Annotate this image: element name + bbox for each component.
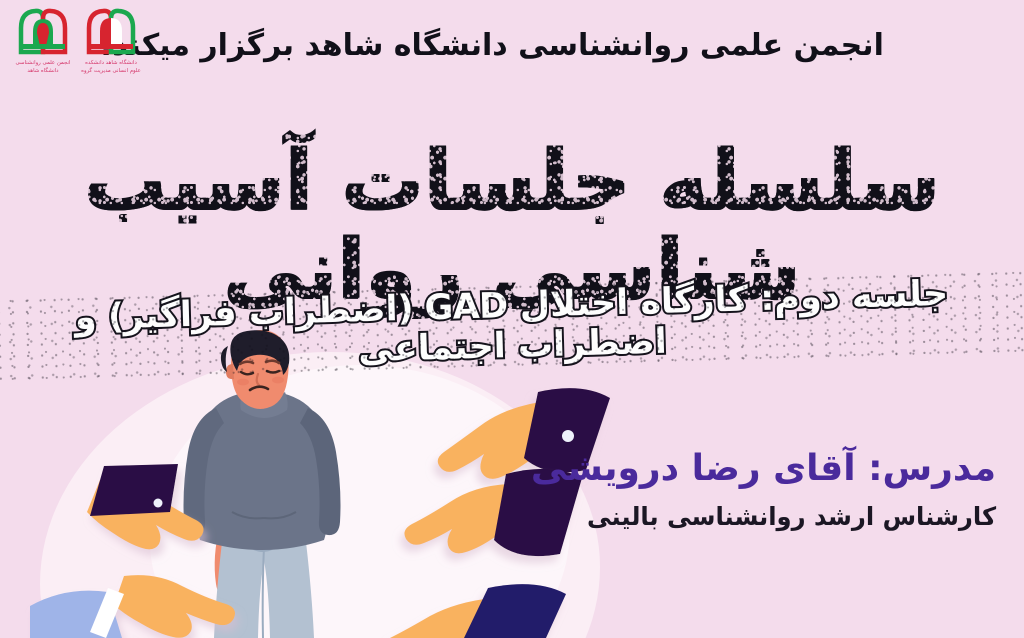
hand-bottom-left <box>30 575 235 638</box>
shahed-university-logo-icon <box>81 6 141 58</box>
logo-unit-association: انجمن علمی روانشناسی دانشگاه شاهد <box>12 6 74 76</box>
hand-bottom-right <box>390 584 566 638</box>
instructor-role: کارشناس ارشد روانشناسی بالینی <box>545 502 996 531</box>
psychology-association-logo-caption: انجمن علمی روانشناسی دانشگاه شاهد <box>12 60 74 76</box>
shahed-university-logo-caption: دانشگاه شاهد دانشکده علوم انسانی مدیریت … <box>80 60 142 76</box>
logo-unit-university: دانشگاه شاهد دانشکده علوم انسانی مدیریت … <box>80 6 142 76</box>
instructor-block: مدرس: آقای رضا درویشی کارشناس ارشد روانش… <box>531 448 996 531</box>
instructor-name: مدرس: آقای رضا درویشی <box>531 448 996 489</box>
hand-top-left-sleeve <box>90 464 178 516</box>
organizer-header: انجمن علمی روانشناسی دانشگاه شاهد برگزار… <box>0 28 1024 63</box>
sleeve-button <box>562 430 574 442</box>
hand-bottom-right-sleeve <box>464 584 566 638</box>
sleeve-button <box>154 499 163 508</box>
poster-canvas: دانشگاه شاهد دانشکده علوم انسانی مدیریت … <box>0 0 1024 638</box>
logo-group: دانشگاه شاهد دانشکده علوم انسانی مدیریت … <box>6 6 142 90</box>
psychology-association-logo-icon <box>13 6 73 58</box>
person-figure <box>184 330 341 638</box>
